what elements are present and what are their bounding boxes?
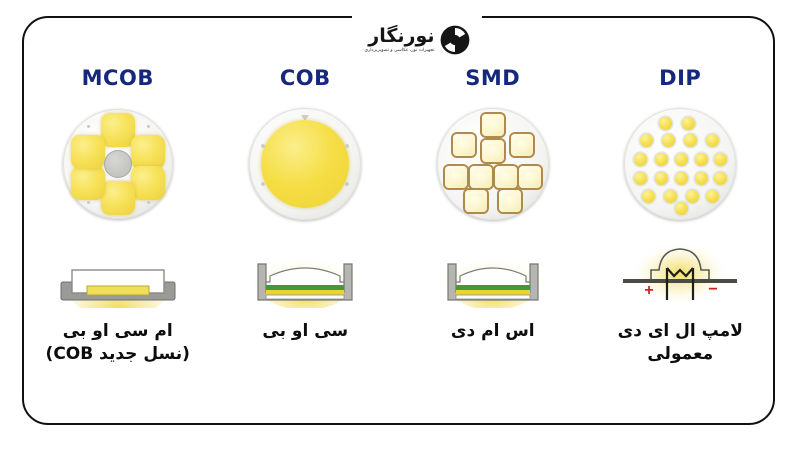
brand-tagline: تجهیزات نور، عکاسی و تصویربرداری	[364, 49, 434, 54]
comparison-columns: MCOB	[24, 58, 774, 408]
column-mcob: MCOB	[24, 58, 212, 408]
label-mcob-line2: (نسل جدید COB)	[46, 343, 190, 366]
dip-module-icon	[616, 104, 744, 224]
column-title-cob: COB	[280, 66, 331, 92]
label-mcob-line1: ام سی او بی	[63, 321, 173, 341]
column-title-mcob: MCOB	[82, 66, 154, 92]
column-title-smd: SMD	[465, 66, 520, 92]
mcob-crosssection-icon	[43, 238, 193, 308]
label-smd-line1: اس ام دی	[451, 321, 535, 341]
label-dip-line1: لامپ ال ای دی	[618, 321, 743, 341]
label-cob-line1: سی او بی	[262, 321, 348, 341]
polarity-positive: +	[645, 282, 654, 299]
column-smd: SMD	[399, 58, 587, 408]
column-cob: COB	[212, 58, 400, 408]
mcob-module-icon	[54, 104, 182, 224]
label-smd: اس ام دی	[451, 320, 535, 343]
infographic-canvas: نورنگار تجهیزات نور، عکاسی و تصویربرداری…	[0, 0, 800, 450]
label-mcob: ام سی او بی (نسل جدید COB)	[46, 320, 190, 366]
polarity-negative: −	[709, 281, 718, 298]
column-title-dip: DIP	[659, 66, 701, 92]
column-dip: DIP	[587, 58, 775, 408]
cob-module-icon	[241, 104, 369, 224]
smd-crosssection-icon	[418, 238, 568, 308]
brand-name: نورنگار	[368, 27, 434, 46]
label-dip-line2: معمولی	[618, 343, 743, 366]
label-cob: سی او بی	[262, 320, 348, 343]
dip-crosssection-icon: + −	[605, 238, 755, 308]
label-dip: لامپ ال ای دی معمولی	[618, 320, 743, 366]
aperture-icon	[440, 25, 470, 55]
smd-module-icon	[429, 104, 557, 224]
brand-text-block: نورنگار تجهیزات نور، عکاسی و تصویربرداری	[364, 27, 434, 54]
cob-crosssection-icon	[230, 238, 380, 308]
